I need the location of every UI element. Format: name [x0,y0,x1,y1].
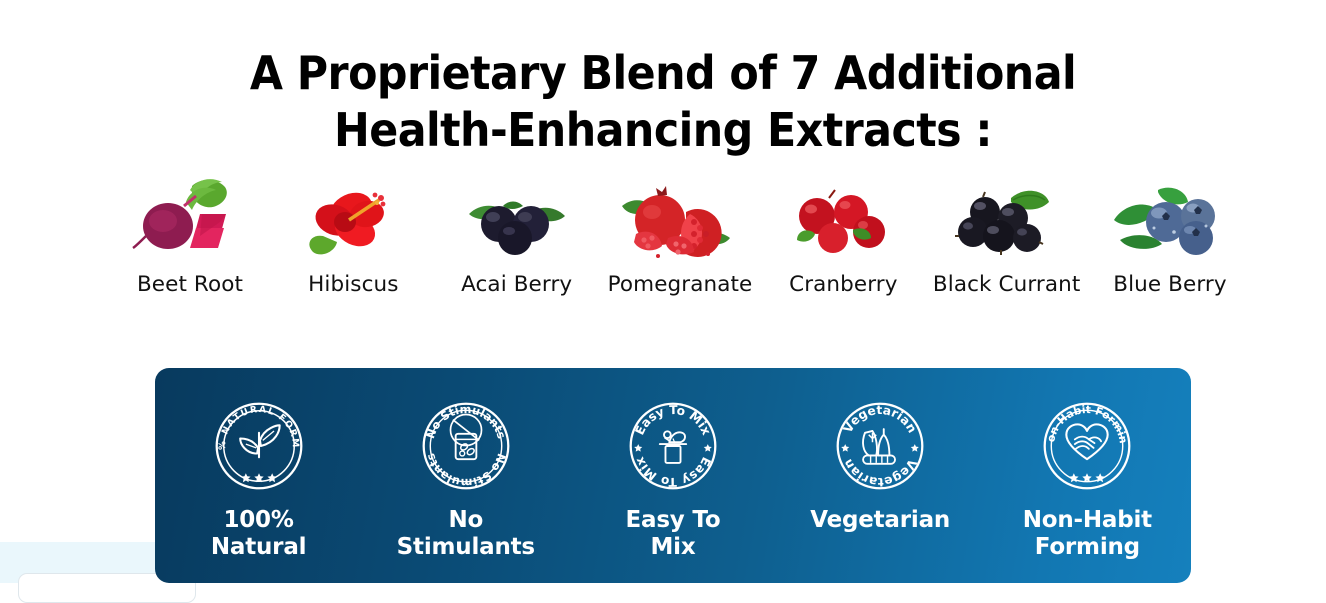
natural-formula-seal: 100% NATURAL FORMULA [212,399,306,493]
ingredient-label: Pomegranate [600,272,760,297]
benefit-caption: 100% Natural [164,507,354,561]
ingredient-label: Black Currant [927,272,1087,297]
benefit-100-natural[interactable]: 100% NATURAL FORMULA [164,399,354,561]
benefit-no-stimulants[interactable]: No Stimulants No Stimulants [371,399,561,561]
vegetables-icon [863,429,895,464]
benefit-caption: Easy To Mix [578,507,768,561]
svg-text:No Stimulants: No Stimulants [424,451,508,489]
ingredient-blue-berry[interactable]: Blue Berry [1090,176,1250,297]
pomegranate-image [620,176,740,260]
hibiscus-flower-image [293,176,413,260]
heart-handshake-icon [1067,424,1108,459]
benefit-caption-line-1: 100% [223,507,293,533]
seal-stars [841,444,919,452]
benefit-caption-line-1: Non-Habit [1023,507,1152,533]
beet-root-image [130,176,250,260]
benefit-caption: Non-Habit Forming [992,507,1182,561]
scoop-pour-icon [660,431,686,463]
svg-text:Easy To Mix: Easy To Mix [632,455,713,489]
black-currant-image [947,176,1067,260]
no-pills-icon [450,415,481,460]
blue-berry-image [1110,176,1230,260]
benefit-caption-line-1: Easy To [625,507,720,533]
benefit-caption: Vegetarian [785,507,975,534]
non-habit-forming-seal: Non-Habit Forming [1040,399,1134,493]
benefit-caption-line-2: Forming [1035,534,1140,560]
easy-to-mix-seal: Easy To Mix Easy To Mix [626,399,720,493]
svg-text:Easy To Mix: Easy To Mix [632,403,713,437]
ingredient-pomegranate[interactable]: Pomegranate [600,176,760,297]
benefit-caption-line-2: Stimulants [397,534,535,560]
benefit-caption: No Stimulants [371,507,561,561]
benefit-caption-line-1: No [448,507,483,533]
benefit-caption-line-1: Vegetarian [810,507,950,533]
benefit-non-habit-forming[interactable]: Non-Habit Forming [992,399,1182,561]
page-title-line-1: A Proprietary Blend of 7 Additional [46,45,1279,102]
ingredients-row: Beet Root Hibiscus [110,176,1250,297]
ingredient-label: Hibiscus [273,272,433,297]
acai-berry-image [457,176,577,260]
benefits-row: 100% NATURAL FORMULA [155,368,1191,583]
cranberry-image [783,176,903,260]
leaf-icon [240,425,279,457]
ingredient-black-currant[interactable]: Black Currant [927,176,1087,297]
svg-text:100% NATURAL FORMULA: 100% NATURAL FORMULA [212,399,300,450]
ingredient-hibiscus[interactable]: Hibiscus [273,176,433,297]
ingredient-label: Cranberry [763,272,923,297]
svg-text:Vegetarian: Vegetarian [841,457,920,489]
ingredient-beet-root[interactable]: Beet Root [110,176,270,297]
benefit-easy-to-mix[interactable]: Easy To Mix Easy To Mix [578,399,768,561]
benefit-vegetarian[interactable]: Vegetarian Vegetarian [785,399,975,534]
ingredient-cranberry[interactable]: Cranberry [763,176,923,297]
benefit-caption-line-2: Mix [650,534,695,560]
ingredient-label: Beet Root [110,272,270,297]
ingredient-acai-berry[interactable]: Acai Berry [437,176,597,297]
ingredient-label: Acai Berry [437,272,597,297]
ingredient-label: Blue Berry [1090,272,1250,297]
page-title: A Proprietary Blend of 7 Additional Heal… [0,45,1326,159]
page-title-line-2: Health-Enhancing Extracts : [46,102,1279,159]
vegetarian-seal: Vegetarian Vegetarian [833,399,927,493]
svg-text:Vegetarian: Vegetarian [841,403,920,435]
benefits-panel: 100% NATURAL FORMULA [155,368,1191,583]
seal-stars [1069,473,1105,482]
svg-text:No Stimulants: No Stimulants [424,403,508,441]
no-stimulants-seal: No Stimulants No Stimulants [419,399,513,493]
benefit-caption-line-2: Natural [211,534,307,560]
